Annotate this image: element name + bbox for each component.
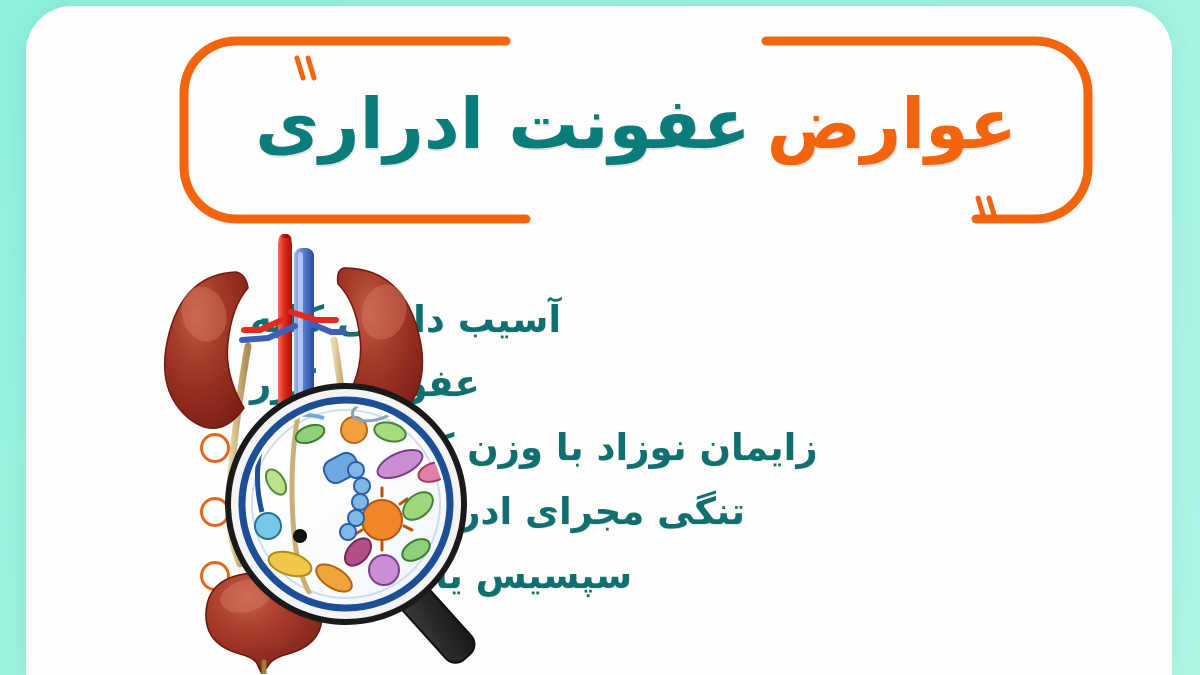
left-renal-artery: [244, 320, 282, 330]
title-word-urinary-infection: عفونت ادراری: [255, 89, 751, 159]
title-word-complications: عوارض: [767, 89, 1017, 159]
content-card: عوارض عفونت ادراری آسیب دائمی کلیه عفونت…: [26, 6, 1172, 675]
poster-canvas: عوارض عفونت ادراری آسیب دائمی کلیه عفونت…: [0, 0, 1200, 675]
urinary-system-illustration: [148, 234, 558, 674]
vena-cava-highlight: [298, 252, 303, 408]
page-title: عوارض عفونت ادراری: [176, 64, 1096, 184]
right-renal-vein: [312, 324, 344, 332]
